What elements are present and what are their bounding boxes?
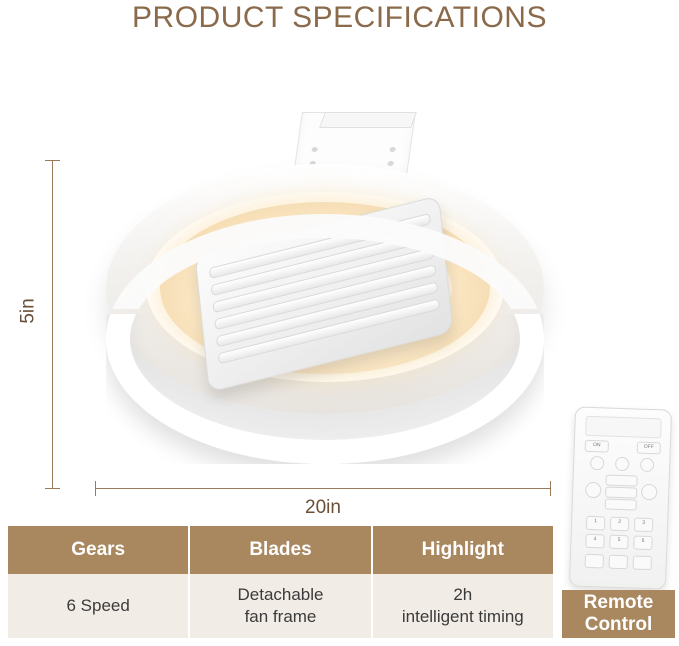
remote-button-left [585,482,602,499]
height-dimension-cap-bottom [45,488,60,489]
remote-control-illustration: ON OFF 1 2 3 4 5 6 [569,406,672,589]
spec-table-value-row: 6 Speed Detachable fan frame 2h intellig… [8,574,553,638]
width-dimension-cap-left [95,481,96,496]
remote-control-label-line2: Control [585,614,653,636]
remote-button-up [605,474,637,486]
remote-button-ok [605,486,637,498]
spec-table-header-row: Gears Blades Highlight [8,526,553,574]
specification-table: Gears Blades Highlight 6 Speed Detachabl… [8,526,553,638]
height-dimension-cap-top [45,160,60,161]
spec-value-highlight-line1: 2h [453,585,472,604]
spec-header-blades: Blades [190,526,372,574]
remote-button-light [590,456,604,470]
spec-value-blades-line1: Detachable [237,585,323,604]
remote-button-on: ON [585,440,609,453]
height-dimension-label: 5in [18,298,40,323]
ceiling-mount-plate [319,112,417,128]
spec-value-blades-line2: fan frame [245,607,317,626]
ceiling-fan-light-illustration [100,102,550,482]
remote-button-off: OFF [637,442,661,455]
width-dimension-label: 20in [283,497,363,519]
remote-button-6: 6 [633,535,652,550]
remote-button-2: 2 [610,517,629,532]
remote-display [585,416,662,439]
remote-control-label-line1: Remote [584,592,654,614]
remote-button-reset [633,555,652,570]
remote-button-5: 5 [609,535,628,550]
spec-header-highlight: Highlight [373,526,553,574]
remote-button-3: 3 [634,517,653,532]
remote-button-4: 4 [585,534,604,549]
spec-value-blades: Detachable fan frame [190,574,372,638]
remote-button-down [605,498,637,510]
remote-button-timer [640,458,654,472]
spec-header-gears: Gears [8,526,190,574]
remote-button-right [641,484,658,501]
remote-button-mode [585,554,604,569]
height-dimension-line [52,160,53,488]
remote-button-set [609,555,628,570]
width-dimension-cap-right [550,481,551,496]
width-dimension-line [95,488,550,489]
mount-hole-icon [311,147,318,152]
mount-hole-icon [389,147,396,152]
remote-button-fan [615,457,629,471]
spec-value-highlight: 2h intelligent timing [373,574,553,638]
spec-value-highlight-line2: intelligent timing [402,607,524,626]
remote-control-label: Remote Control [562,590,675,638]
remote-button-1: 1 [586,516,605,531]
spec-value-gears: 6 Speed [8,574,190,638]
mount-hole-icon [387,161,394,166]
page-title: PRODUCT SPECIFICATIONS [0,0,679,36]
